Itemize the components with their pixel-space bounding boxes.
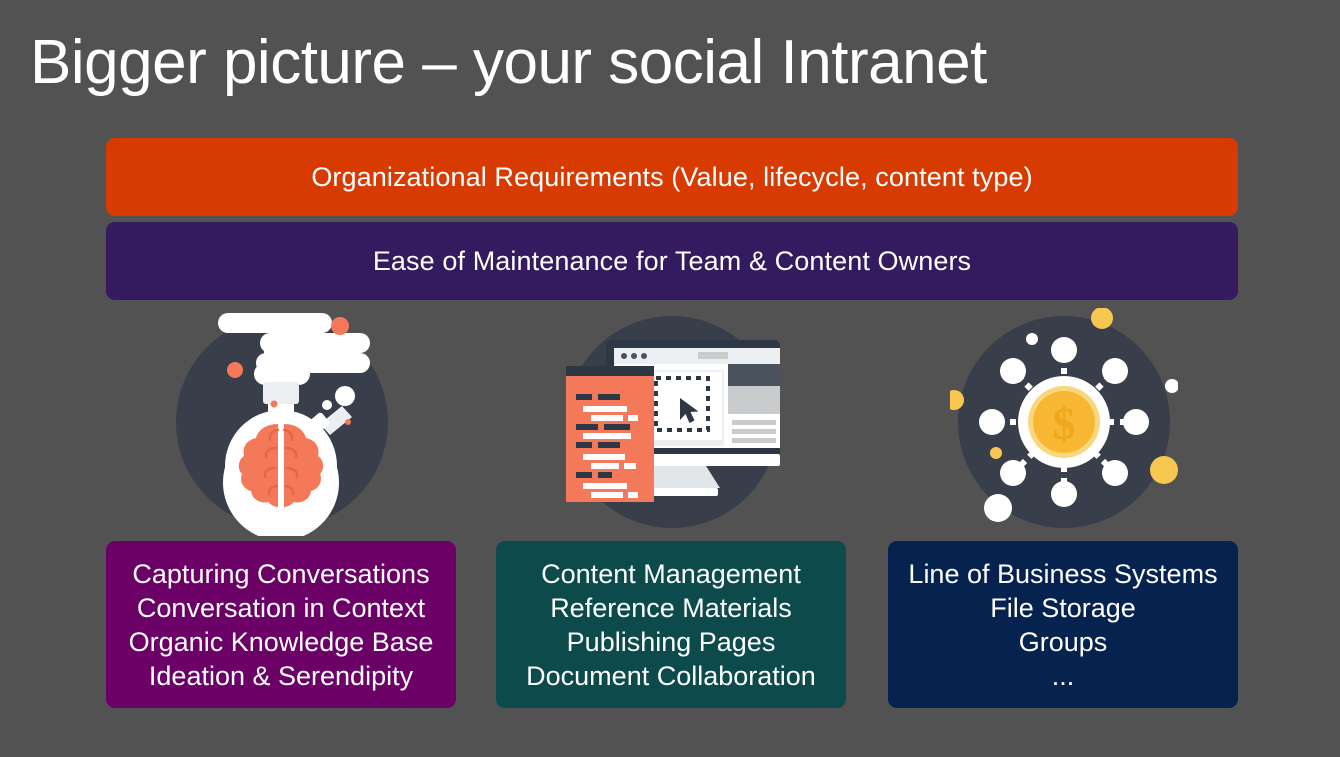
content-line: Groups [1019,625,1108,659]
content-line: Ideation & Serendipity [149,659,413,693]
content-box-conversations: Capturing Conversations Conversation in … [106,541,456,708]
content-box-content: Content Management Reference Materials P… [496,541,846,708]
content-line: Publishing Pages [567,625,776,659]
content-line: Content Management [541,557,801,591]
icons-row: $ [106,308,1238,536]
content-line: ... [1052,659,1075,693]
svg-text:$: $ [1053,398,1076,449]
content-line: Capturing Conversations [132,557,429,591]
content-line: Line of Business Systems [908,557,1217,591]
content-line: Document Collaboration [526,659,816,693]
brain-flask-icon [168,308,396,536]
content-line: Organic Knowledge Base [129,625,434,659]
content-box-business-systems: Line of Business Systems File Storage Gr… [888,541,1238,708]
banner-ease-of-maintenance-label: Ease of Maintenance for Team & Content O… [373,246,971,277]
banner-ease-of-maintenance: Ease of Maintenance for Team & Content O… [106,222,1238,300]
content-line: File Storage [990,591,1136,625]
slide-canvas: Bigger picture – your social Intranet Or… [0,0,1340,757]
network-coin-icon: $ [950,308,1178,536]
banner-organizational-requirements: Organizational Requirements (Value, life… [106,138,1238,216]
page-title: Bigger picture – your social Intranet [30,28,1310,97]
content-line: Reference Materials [550,591,792,625]
monitor-document-icon [558,308,786,536]
banner-organizational-requirements-label: Organizational Requirements (Value, life… [311,162,1032,193]
content-line: Conversation in Context [137,591,425,625]
